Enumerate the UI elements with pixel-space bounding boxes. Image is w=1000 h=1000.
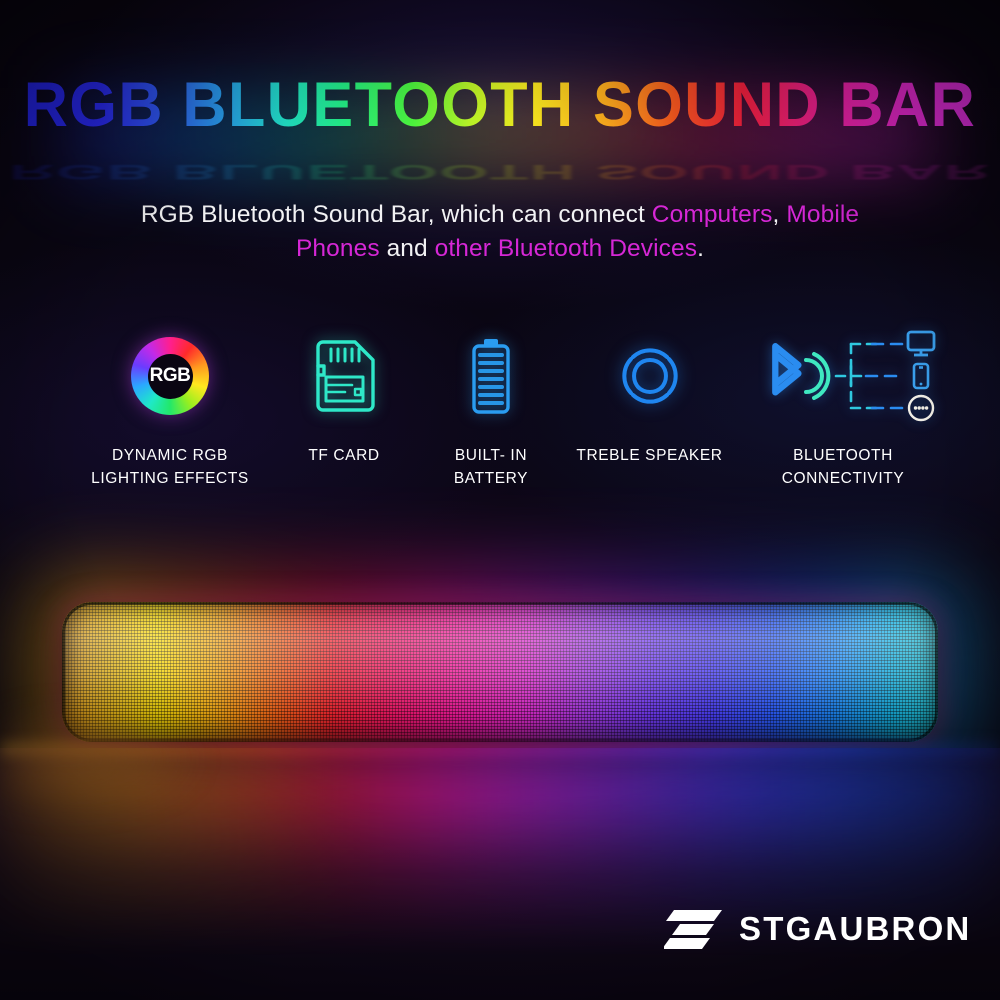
product-marketing-banner: RGB BLUETOOTH SOUND BAR RGB BLUETOOTH SO… (0, 0, 1000, 1000)
tf-card-icon (311, 339, 377, 413)
icon-container (744, 330, 942, 422)
rgb-color-wheel-icon: RGB (131, 337, 209, 415)
phone-icon (914, 364, 928, 388)
feature-built-in-battery: BUILT- IN BATTERY (417, 330, 565, 490)
stgaubron-logo-mark (664, 908, 722, 950)
feature-dynamic-rgb: RGB DYNAMIC RGB LIGHTING EFFECTS (72, 330, 268, 490)
icon-container (268, 330, 420, 422)
treble-speaker-icon (609, 335, 691, 417)
feature-bluetooth-connectivity: BLUETOOTH CONNECTIVITY (744, 330, 942, 490)
rgb-wheel-label: RGB (131, 337, 209, 415)
feature-treble-speaker: TREBLE SPEAKER (547, 330, 752, 467)
brand-name: STGAUBRON (739, 910, 971, 948)
subtitle-highlight-computers: Computers (652, 201, 773, 228)
icon-container (417, 330, 565, 422)
icon-container (547, 330, 752, 422)
bluetooth-symbol-icon (775, 346, 798, 392)
monitor-icon (908, 332, 934, 355)
icon-container: RGB (72, 330, 268, 422)
subtitle-comma: , (773, 201, 780, 228)
title-block: RGB BLUETOOTH SOUND BAR RGB BLUETOOTH SO… (0, 74, 1000, 137)
feature-label: BUILT- IN BATTERY (417, 444, 565, 490)
feature-tf-card: TF CARD (268, 330, 420, 467)
subtitle-and: and (380, 235, 435, 262)
subtitle-text-a: RGB Bluetooth Sound Bar, which can conne… (141, 201, 652, 228)
more-devices-icon (909, 396, 933, 420)
subtitle: RGB Bluetooth Sound Bar, which can conne… (140, 198, 860, 266)
feature-list: RGB DYNAMIC RGB LIGHTING EFFECTS (72, 330, 942, 510)
feature-label: TF CARD (268, 444, 420, 467)
battery-icon (467, 336, 515, 416)
bluetooth-connectivity-icon (748, 328, 938, 424)
feature-label: BLUETOOTH CONNECTIVITY (744, 444, 942, 490)
brand-logo: STGAUBRON (664, 908, 971, 950)
feature-label: DYNAMIC RGB LIGHTING EFFECTS (72, 444, 268, 490)
page-title: RGB BLUETOOTH SOUND BAR (15, 74, 985, 137)
subtitle-period: . (697, 235, 704, 262)
feature-label: TREBLE SPEAKER (547, 444, 752, 467)
floor-left-warm-glow (0, 700, 230, 820)
subtitle-highlight-bluetooth-devices: other Bluetooth Devices (435, 235, 697, 262)
